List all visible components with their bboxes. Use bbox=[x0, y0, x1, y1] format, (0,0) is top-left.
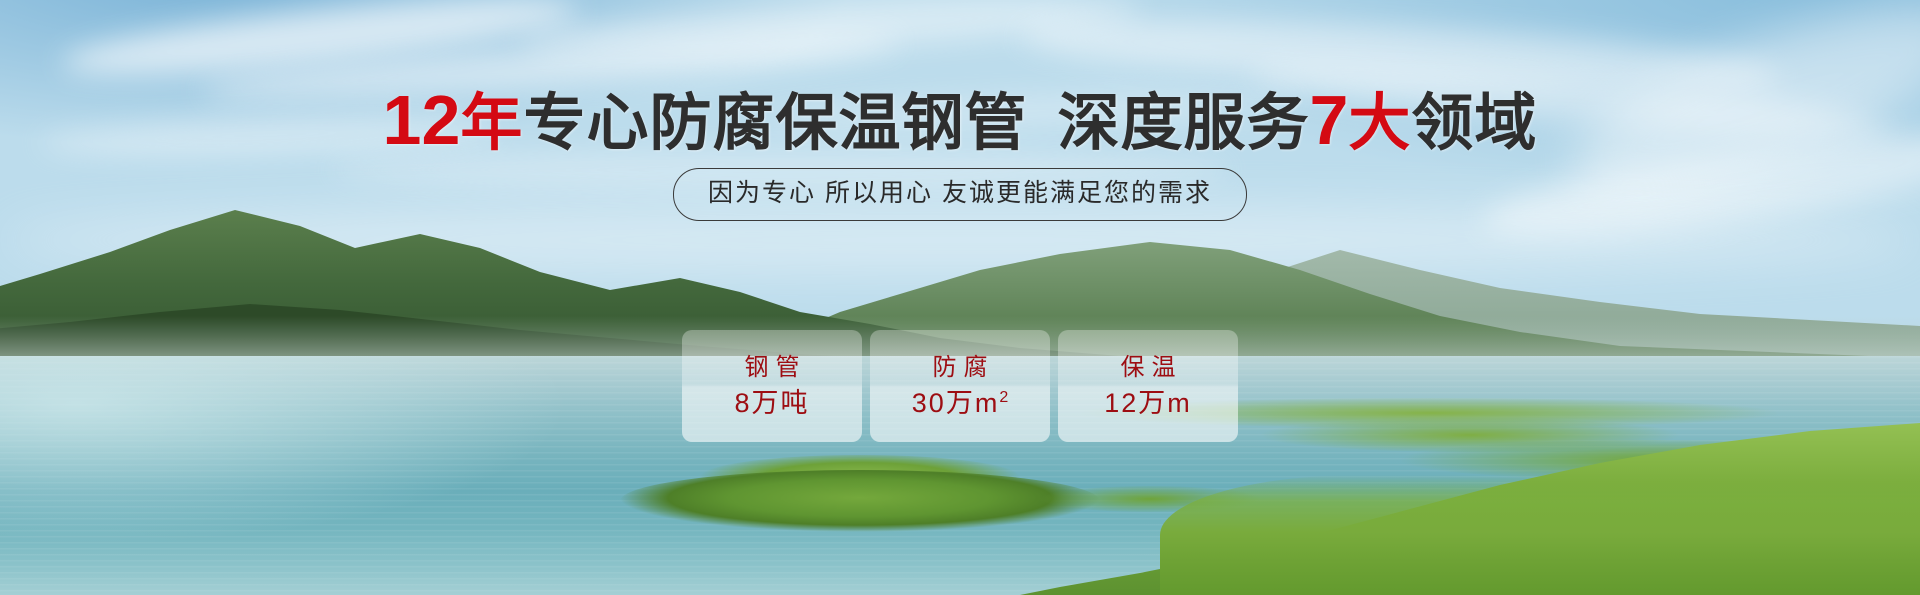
stat-value-superscript: 2 bbox=[999, 389, 1008, 406]
fields-number: 7 bbox=[1309, 81, 1348, 159]
stat-card-value: 30万m2 bbox=[912, 390, 1008, 417]
stat-card-steel-pipe[interactable]: 钢管 8万吨 bbox=[682, 330, 862, 442]
headline-main: 专心防腐保温钢管 bbox=[523, 89, 1027, 158]
stat-card-anticorrosion[interactable]: 防腐 30万m2 bbox=[870, 330, 1050, 442]
banner-content: 12年专心防腐保温钢管深度服务7大领域 因为专心 所以用心 友诚更能满足您的需求… bbox=[0, 0, 1920, 595]
fields-unit: 大 bbox=[1348, 89, 1411, 158]
stat-card-value: 8万吨 bbox=[734, 390, 809, 417]
stat-card-insulation[interactable]: 保温 12万m bbox=[1058, 330, 1238, 442]
headline-service: 深度服务 bbox=[1057, 89, 1309, 158]
stats-row: 钢管 8万吨 防腐 30万m2 保温 12万m bbox=[0, 330, 1920, 442]
stat-value-text: 8万吨 bbox=[734, 388, 809, 418]
stat-value-text: 30万m bbox=[912, 388, 1000, 418]
stat-card-title: 钢管 bbox=[738, 356, 807, 380]
subtitle-container: 因为专心 所以用心 友诚更能满足您的需求 bbox=[0, 168, 1920, 221]
stat-card-title: 保温 bbox=[1114, 356, 1183, 380]
page-title: 12年专心防腐保温钢管深度服务7大领域 bbox=[0, 85, 1920, 155]
stat-value-text: 12万m bbox=[1104, 388, 1192, 418]
stat-card-title: 防腐 bbox=[926, 356, 995, 380]
years-unit: 年 bbox=[460, 89, 523, 158]
hero-banner: 12年专心防腐保温钢管深度服务7大领域 因为专心 所以用心 友诚更能满足您的需求… bbox=[0, 0, 1920, 595]
stat-card-value: 12万m bbox=[1104, 390, 1192, 417]
headline-fields: 领域 bbox=[1411, 89, 1537, 158]
years-number: 12 bbox=[383, 81, 461, 159]
subtitle-pill: 因为专心 所以用心 友诚更能满足您的需求 bbox=[673, 168, 1247, 221]
